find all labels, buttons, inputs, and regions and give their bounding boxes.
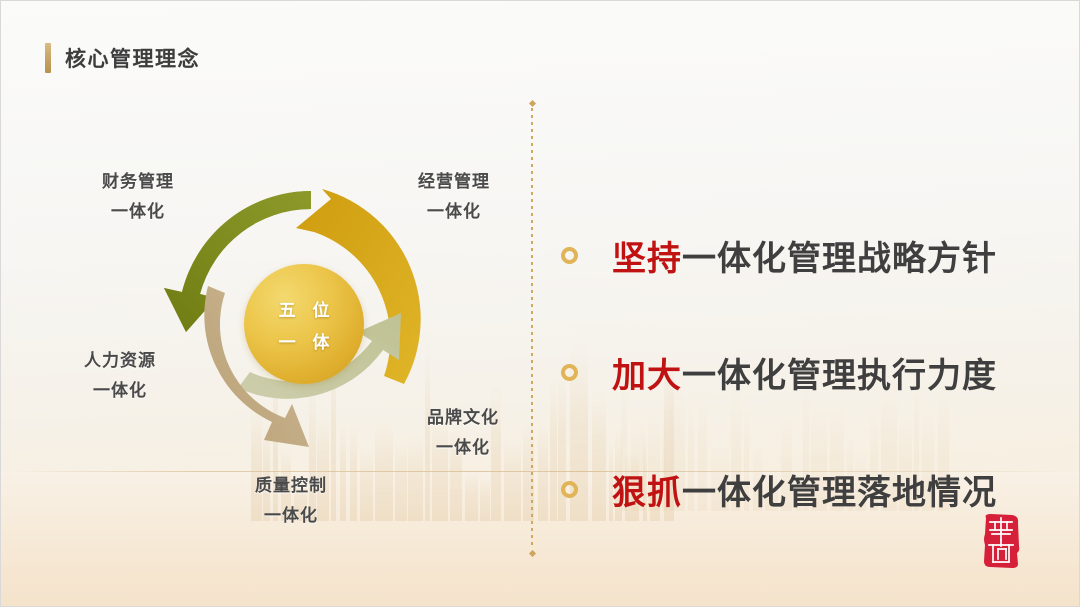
- label-finance: 财务管理 一体化: [63, 167, 213, 227]
- bullet-item-1: 坚持一体化管理战略方针: [561, 227, 1061, 283]
- vertical-dotted-divider: [530, 101, 535, 556]
- label-finance-line2: 一体化: [63, 197, 213, 227]
- cycle-core-circle: 五 位 一 体: [244, 264, 364, 384]
- title-label: 核心管理理念: [65, 43, 200, 73]
- label-finance-line1: 财务管理: [102, 172, 174, 191]
- bullet-item-3: 狠抓一体化管理落地情况: [561, 461, 1061, 517]
- label-operations: 经营管理 一体化: [379, 167, 529, 227]
- core-line-1: 五 位: [273, 296, 336, 321]
- page-title: 核心管理理念: [45, 43, 200, 73]
- bullet-text-2: 加大一体化管理执行力度: [612, 348, 997, 397]
- label-operations-line2: 一体化: [379, 197, 529, 227]
- divider-cap-bottom-icon: [529, 550, 536, 557]
- label-human-resources-line2: 一体化: [45, 376, 195, 406]
- label-human-resources-line1: 人力资源: [84, 351, 156, 370]
- bullet-rest-1: 一体化管理战略方针: [682, 240, 997, 278]
- core-line-2: 一 体: [273, 328, 336, 353]
- bullet-ring-icon: [561, 481, 578, 498]
- bullet-rest-3: 一体化管理落地情况: [682, 474, 997, 512]
- label-brand-culture-line2: 一体化: [393, 433, 533, 463]
- bullet-highlight-1: 坚持: [612, 240, 682, 278]
- title-accent-bar: [45, 43, 51, 73]
- presentation-slide: 核心管理理念: [0, 0, 1080, 607]
- label-brand-culture-line1: 品牌文化: [427, 408, 499, 427]
- bullet-text-3: 狠抓一体化管理落地情况: [612, 465, 997, 514]
- label-operations-line1: 经营管理: [418, 172, 490, 191]
- bullet-item-2: 加大一体化管理执行力度: [561, 344, 1061, 400]
- bullet-ring-icon: [561, 364, 578, 381]
- divider-line: [531, 108, 533, 549]
- red-seal-stamp: [979, 512, 1023, 570]
- label-quality-control-line1: 质量控制: [255, 476, 327, 495]
- bullet-text-1: 坚持一体化管理战略方针: [612, 231, 997, 280]
- bullet-highlight-3: 狠抓: [612, 474, 682, 512]
- bullet-rest-2: 一体化管理执行力度: [682, 357, 997, 395]
- bullet-list: 坚持一体化管理战略方针 加大一体化管理执行力度 狠抓一体化管理落地情况: [561, 227, 1061, 517]
- cycle-diagram: 五 位 一 体: [186, 206, 421, 441]
- bullet-highlight-2: 加大: [612, 357, 682, 395]
- label-quality-control: 质量控制 一体化: [211, 471, 371, 531]
- bullet-ring-icon: [561, 247, 578, 264]
- label-quality-control-line2: 一体化: [211, 501, 371, 531]
- label-human-resources: 人力资源 一体化: [45, 346, 195, 406]
- label-brand-culture: 品牌文化 一体化: [393, 403, 533, 463]
- divider-cap-top-icon: [529, 100, 536, 107]
